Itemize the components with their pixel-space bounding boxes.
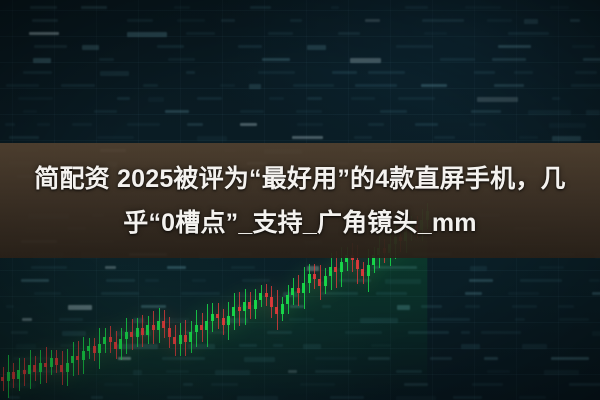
banner-image: 简配资 2025被评为“最好用”的4款直屏手机，几 乎“0槽点”_支持_广角镜头… bbox=[0, 0, 600, 400]
title-line-1: 简配资 2025被评为“最好用”的4款直屏手机，几 bbox=[34, 157, 565, 201]
title-line-2: 乎“0槽点”_支持_广角镜头_mm bbox=[123, 201, 476, 245]
page-title: 简配资 2025被评为“最好用”的4款直屏手机，几 乎“0槽点”_支持_广角镜头… bbox=[0, 143, 600, 258]
